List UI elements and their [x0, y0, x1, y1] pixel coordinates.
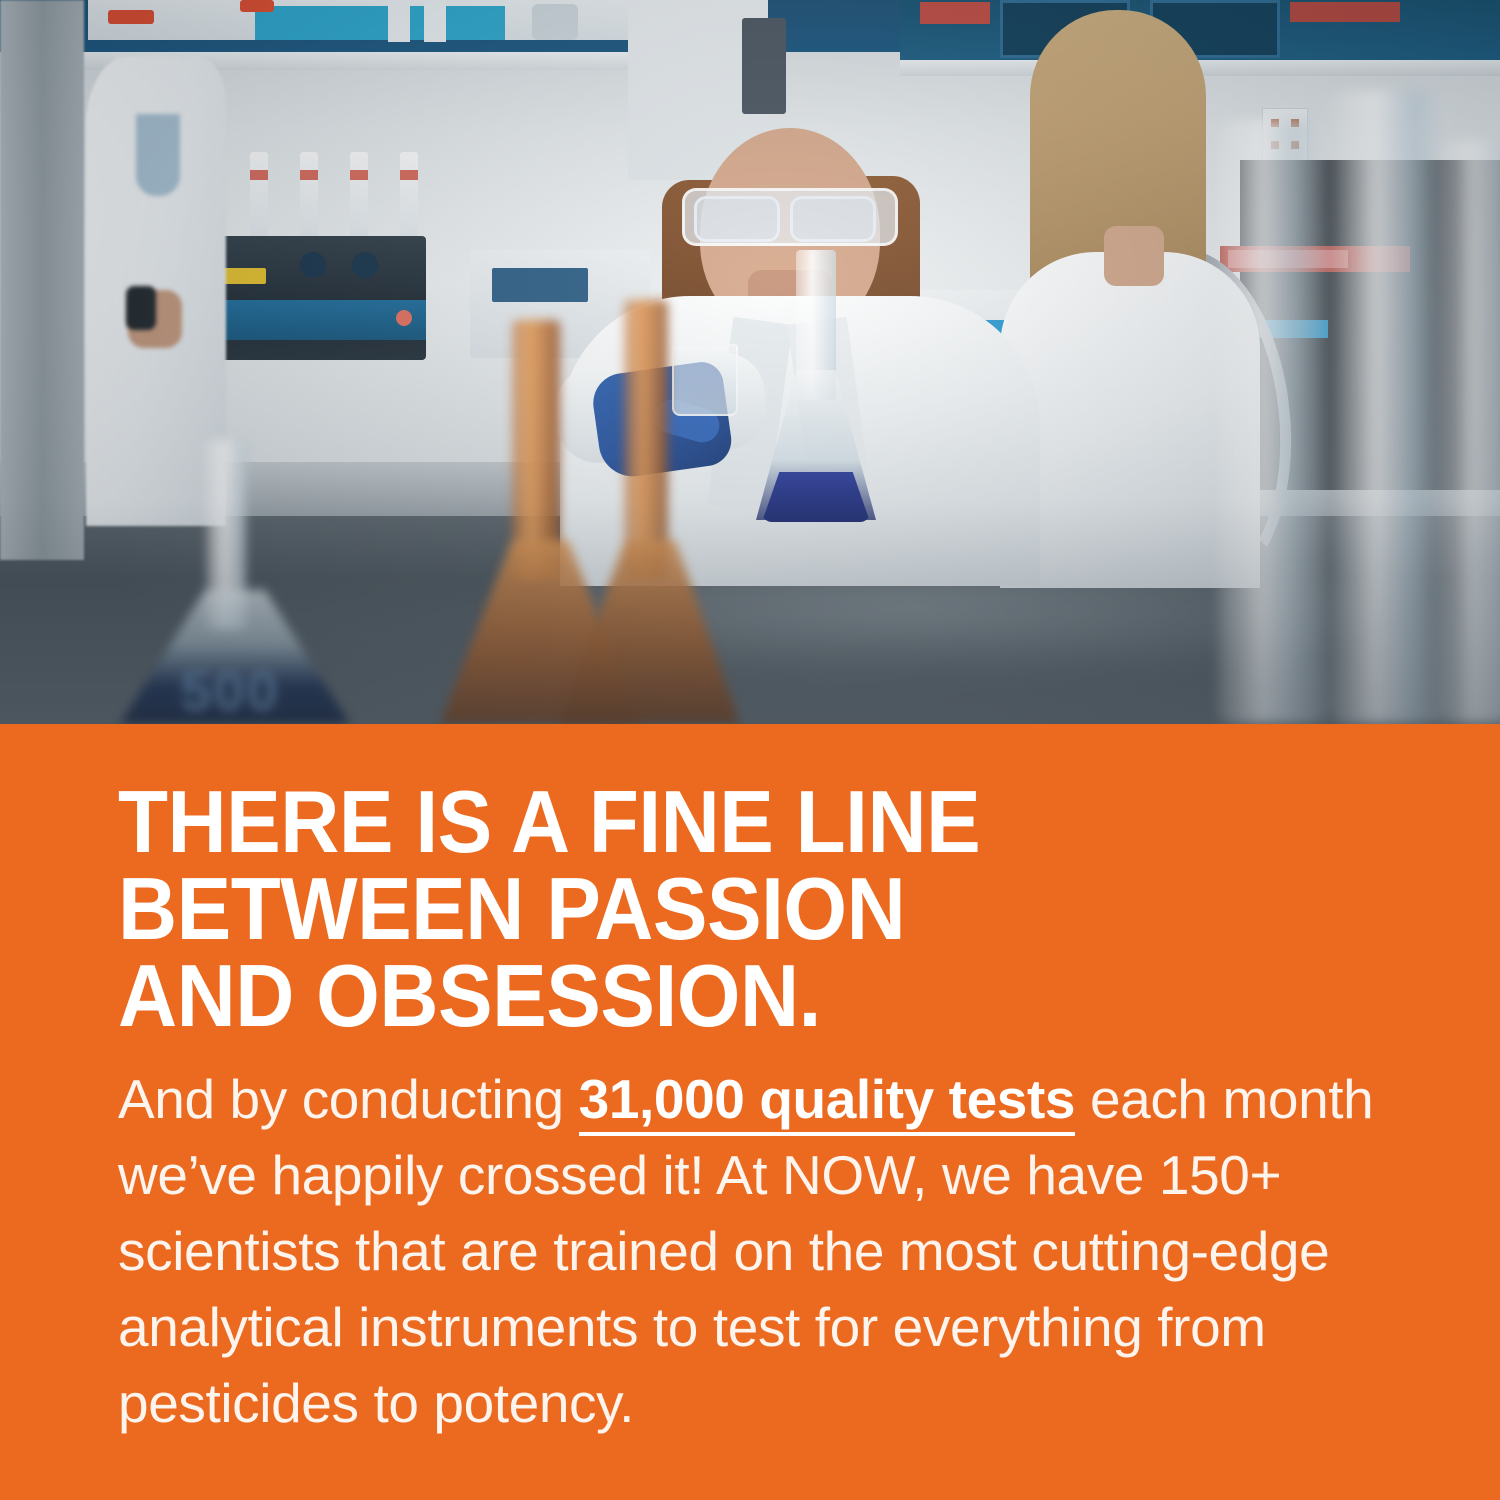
scientist-left-held-object [126, 286, 156, 330]
instrument-display-center [492, 268, 588, 302]
body-lead-text: And by conducting [118, 1068, 579, 1130]
shelf-jug [532, 4, 578, 40]
wall-mounted-card [742, 18, 786, 114]
instrument-knob-a [300, 252, 326, 278]
shelf-red-label-a [108, 10, 154, 24]
cabinet-red-item-b [1290, 2, 1400, 22]
cabinet-red-item-a [920, 2, 990, 24]
scientist-right-neck [1104, 226, 1164, 286]
bench-instrument-left-base [196, 300, 426, 340]
orange-message-panel: THERE IS A FINE LINE BETWEEN PASSION AND… [0, 724, 1500, 1500]
test-tube-rack [196, 152, 432, 244]
instrument-indicator-light [396, 310, 412, 326]
body-paragraph: And by conducting 31,000 quality tests e… [118, 1061, 1388, 1441]
photo-depth-shading [0, 500, 1500, 724]
marketing-infographic: 500 THERE IS A FINE LINE BETWEEN PASSION… [0, 0, 1500, 1500]
safety-goggles-frame [682, 188, 898, 246]
shelf-bottle-b [424, 0, 446, 42]
stat-highlight-quality-tests: 31,000 quality tests [579, 1068, 1075, 1136]
shelf-red-label-b [240, 0, 274, 12]
shelf-bottle-a [388, 0, 410, 42]
shelf-cyan-box [255, 6, 505, 40]
erlenmeyer-flask-center [756, 250, 876, 520]
instrument-knob-b [352, 252, 378, 278]
laboratory-photo: 500 [0, 0, 1500, 724]
page-headline: THERE IS A FINE LINE BETWEEN PASSION AND… [118, 778, 1308, 1039]
scientist-left-collar [136, 114, 180, 196]
lab-structural-post [0, 0, 84, 560]
